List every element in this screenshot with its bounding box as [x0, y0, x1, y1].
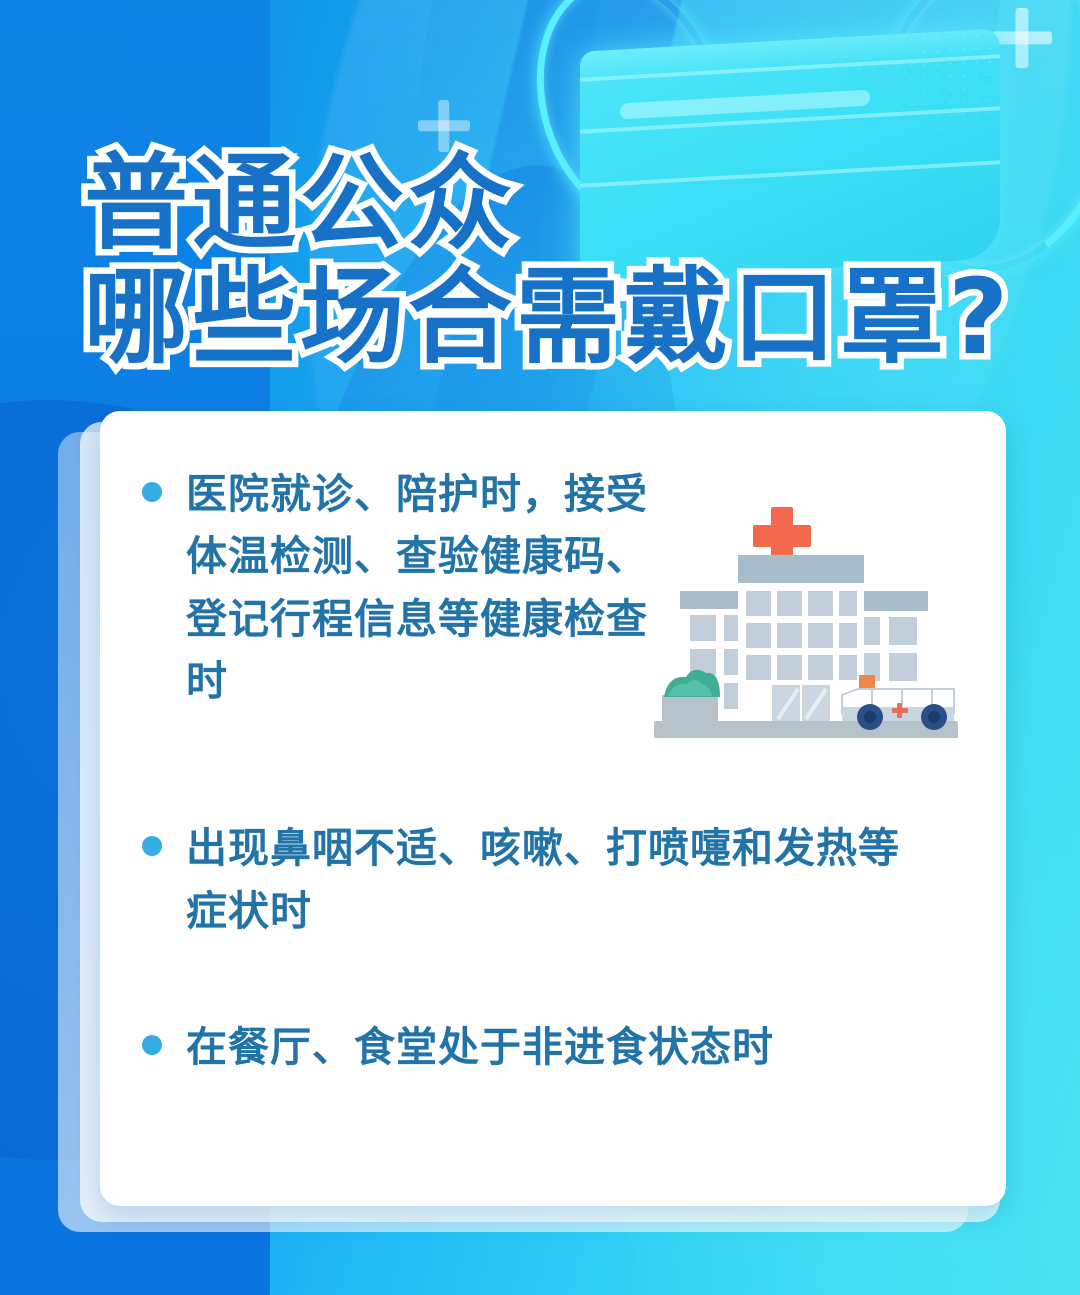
bullet-dot-icon	[142, 482, 162, 502]
bullet-dot-icon	[142, 1035, 162, 1055]
bullet-text: 在餐厅、食堂处于非进食状态时	[186, 1016, 946, 1078]
bullet-text: 出现鼻咽不适、咳嗽、打喷嚏和发热等症状时	[186, 817, 926, 942]
bullet-list: 医院就诊、陪护时，接受体温检测、查验健康码、登记行程信息等健康检查时 出现鼻咽不…	[100, 411, 1006, 1078]
poster-root: 普通公众 哪些场合需戴口罩?	[0, 0, 1080, 1295]
bullet-dot-icon	[142, 836, 162, 856]
page-title: 普通公众 哪些场合需戴口罩?	[0, 148, 1040, 372]
title-line-2: 哪些场合需戴口罩?	[84, 262, 1040, 372]
title-line-1: 普通公众	[84, 148, 1040, 258]
content-card: 医院就诊、陪护时，接受体温检测、查验健康码、登记行程信息等健康检查时 出现鼻咽不…	[100, 411, 1006, 1206]
bullet-hospital-visit: 医院就诊、陪护时，接受体温检测、查验健康码、登记行程信息等健康检查时	[142, 463, 966, 712]
bullet-symptoms: 出现鼻咽不适、咳嗽、打喷嚏和发热等症状时	[142, 817, 966, 942]
bullet-dining: 在餐厅、食堂处于非进食状态时	[142, 1016, 966, 1078]
bullet-text: 医院就诊、陪护时，接受体温检测、查验健康码、登记行程信息等健康检查时	[186, 463, 656, 712]
